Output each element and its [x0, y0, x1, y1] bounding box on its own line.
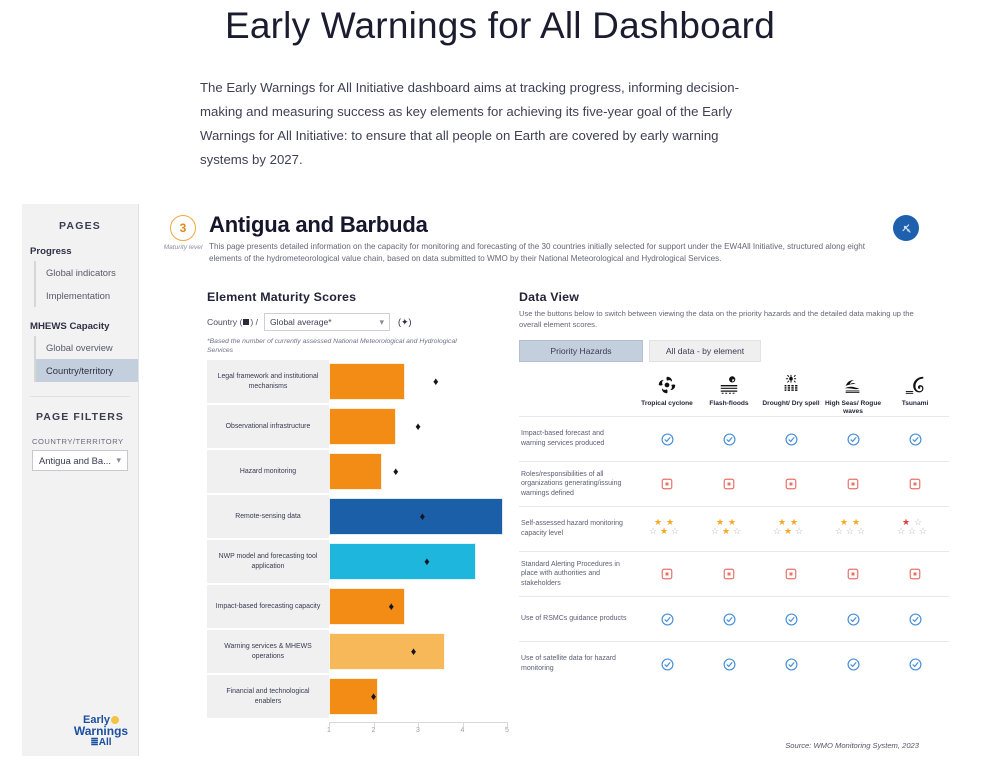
- matrix-cell: [884, 552, 946, 596]
- sidebar-group-mhews-items: Global overview Country/territory: [34, 336, 138, 382]
- cross-icon: [785, 478, 797, 490]
- matrix-cell: [822, 597, 884, 641]
- matrix-row-label: Impact-based forecast and warning servic…: [519, 417, 636, 461]
- star-rating: ★☆☆☆☆: [900, 518, 930, 540]
- bar-row: Legal framework and institutional mechan…: [207, 360, 507, 403]
- bar-row: Observational infrastructure♦: [207, 405, 507, 448]
- country-description: This page presents detailed information …: [209, 241, 899, 264]
- matrix-column-label: High Seas/ Rogue waves: [823, 400, 883, 416]
- dashboard-page: Early Warnings for All Dashboard The Ear…: [0, 4, 1000, 762]
- check-icon: [847, 433, 860, 446]
- matrix-column-label: Flash-floods: [699, 400, 759, 408]
- matrix-cell: [636, 552, 698, 596]
- matrix-row: Roles/responsibilities of all organizati…: [519, 461, 949, 506]
- sidebar-item-implementation[interactable]: Implementation: [36, 284, 138, 307]
- check-icon: [785, 433, 798, 446]
- wmo-logo-icon: [893, 215, 919, 241]
- sidebar-item-global-overview[interactable]: Global overview: [36, 336, 138, 359]
- matrix-column-header: Tsunami: [884, 364, 946, 416]
- bar-track: ♦: [329, 405, 507, 448]
- sidebar-group-progress: Progress: [22, 232, 138, 261]
- matrix-row-label: Use of RSMCs guidance products: [519, 597, 636, 641]
- comparison-select-value: Global average*: [270, 317, 332, 327]
- chart-x-axis: 12345: [329, 720, 507, 742]
- check-icon: [847, 658, 860, 671]
- source-note: Source: WMO Monitoring System, 2023: [785, 741, 919, 750]
- bar-row: Impact-based forecasting capacity♦: [207, 585, 507, 628]
- matrix-cell: [698, 552, 760, 596]
- maturity-level-caption: Maturity level: [162, 244, 204, 252]
- drought-dry-spell-icon: [780, 364, 802, 396]
- matrix-row: Use of RSMCs guidance products: [519, 596, 949, 641]
- bar-row: NWP model and forecasting tool applicati…: [207, 540, 507, 583]
- country-filter-label: COUNTRY/TERRITORY: [22, 423, 138, 450]
- matrix-row: Impact-based forecast and warning servic…: [519, 416, 949, 461]
- bar-label: Financial and technological enablers: [207, 675, 329, 718]
- intro-paragraph: The Early Warnings for All Initiative da…: [200, 76, 745, 172]
- matrix-row: Use of satellite data for hazard monitor…: [519, 641, 949, 686]
- matrix-row-label: Self-assessed hazard monitoring capacity…: [519, 507, 636, 551]
- star-rating: ★★☆★☆: [776, 518, 806, 540]
- bar-rows-container: Legal framework and institutional mechan…: [207, 360, 507, 718]
- check-icon: [723, 658, 736, 671]
- sidebar-item-global-indicators[interactable]: Global indicators: [36, 261, 138, 284]
- matrix-cell: [760, 642, 822, 686]
- matrix-corner-spacer: [519, 364, 636, 416]
- matrix-cell: [698, 642, 760, 686]
- sidebar-filters-heading: PAGE FILTERS: [22, 397, 138, 423]
- sun-icon: [111, 716, 119, 724]
- chevron-down-icon: ▾: [379, 317, 384, 328]
- logo-line-3: ≣All: [72, 737, 130, 748]
- check-icon: [847, 613, 860, 626]
- matrix-cell: [636, 642, 698, 686]
- matrix-cell: [636, 597, 698, 641]
- star-empty-icon: ☆: [897, 527, 905, 536]
- star-filled-icon: ★: [660, 527, 668, 536]
- matrix-header-row: Tropical cycloneFlash-floodsDrought/ Dry…: [519, 364, 949, 416]
- data-view-title: Data View: [519, 290, 939, 304]
- cross-icon: [847, 568, 859, 580]
- star-empty-icon: ☆: [835, 527, 843, 536]
- matrix-cell: ★★☆★☆: [760, 507, 822, 551]
- priority-hazards-button[interactable]: Priority Hazards: [519, 340, 643, 362]
- axis-tick-label: 2: [372, 727, 376, 734]
- check-icon: [909, 433, 922, 446]
- tsunami-icon: [904, 364, 926, 396]
- cross-icon: [909, 568, 921, 580]
- square-marker-icon: [243, 319, 249, 325]
- axis-tick-label: 1: [327, 727, 331, 734]
- bar-label: Legal framework and institutional mechan…: [207, 360, 329, 403]
- matrix-column-label: Drought/ Dry spell: [761, 400, 821, 408]
- check-icon: [723, 433, 736, 446]
- matrix-cell: [698, 597, 760, 641]
- matrix-cell: [884, 417, 946, 461]
- star-empty-icon: ☆: [649, 527, 657, 536]
- country-filter-value: Antigua and Ba...: [39, 455, 111, 466]
- matrix-cell: [884, 642, 946, 686]
- star-empty-icon: ☆: [919, 527, 927, 536]
- matrix-cell: ★★☆☆☆: [822, 507, 884, 551]
- matrix-row-label: Roles/responsibilities of all organizati…: [519, 462, 636, 506]
- sidebar-heading: PAGES: [22, 204, 138, 232]
- star-empty-icon: ☆: [795, 527, 803, 536]
- data-view-panel: Data View Use the buttons below to switc…: [519, 290, 939, 362]
- bar-row: Financial and technological enablers♦: [207, 675, 507, 718]
- matrix-cell: [822, 642, 884, 686]
- check-icon: [661, 433, 674, 446]
- bar-row: Warning services & MHEWS operations♦: [207, 630, 507, 673]
- star-filled-icon: ★: [722, 527, 730, 536]
- cross-icon: [661, 568, 673, 580]
- all-data-by-element-button[interactable]: All data - by element: [649, 340, 761, 362]
- matrix-cell: [822, 552, 884, 596]
- star-rating: ★★☆★☆: [652, 518, 682, 540]
- matrix-column-header: Drought/ Dry spell: [760, 364, 822, 416]
- matrix-column-label: Tsunami: [885, 400, 945, 408]
- cross-icon: [723, 568, 735, 580]
- early-warnings-for-all-logo: Early Warnings ≣All: [72, 715, 130, 748]
- check-icon: [909, 658, 922, 671]
- element-maturity-title: Element Maturity Scores: [207, 290, 507, 304]
- bar-fill[interactable]: [329, 453, 382, 490]
- bar-track: ♦: [329, 450, 507, 493]
- priority-hazards-matrix: Tropical cycloneFlash-floodsDrought/ Dry…: [519, 364, 949, 686]
- bar-fill[interactable]: [329, 363, 405, 400]
- bar-fill[interactable]: [329, 633, 445, 670]
- bar-row: Remote-sensing data♦: [207, 495, 507, 538]
- country-filter-select[interactable]: Antigua and Ba... ▾: [32, 450, 128, 471]
- chart-controls: Country () / Global average* ▾ (✦): [207, 313, 507, 331]
- cross-icon: [909, 478, 921, 490]
- matrix-row: Self-assessed hazard monitoring capacity…: [519, 506, 949, 551]
- sidebar-item-country-territory[interactable]: Country/territory: [36, 359, 138, 382]
- matrix-cell: [698, 417, 760, 461]
- star-empty-icon: ☆: [733, 527, 741, 536]
- check-icon: [661, 658, 674, 671]
- sidebar-group-progress-items: Global indicators Implementation: [34, 261, 138, 307]
- bar-label: Impact-based forecasting capacity: [207, 585, 329, 628]
- matrix-body: Impact-based forecast and warning servic…: [519, 416, 949, 686]
- matrix-cell: [760, 597, 822, 641]
- bar-label: Observational infrastructure: [207, 405, 329, 448]
- matrix-column-header: High Seas/ Rogue waves: [822, 364, 884, 416]
- diamond-marker-icon: (✦): [398, 317, 412, 328]
- axis-tick-label: 5: [505, 727, 509, 734]
- bar-fill[interactable]: [329, 543, 476, 580]
- matrix-column-header: Flash-floods: [698, 364, 760, 416]
- dashboard-frame: PAGES Progress Global indicators Impleme…: [22, 204, 927, 756]
- check-icon: [661, 613, 674, 626]
- check-icon: [785, 658, 798, 671]
- bar-row: Hazard monitoring♦: [207, 450, 507, 493]
- bar-track: ♦: [329, 630, 507, 673]
- matrix-cell: [636, 462, 698, 506]
- star-rating: ★★☆☆☆: [838, 518, 868, 540]
- sidebar-group-mhews-capacity: MHEWS Capacity: [22, 307, 138, 336]
- bar-track: ♦: [329, 495, 507, 538]
- star-empty-icon: ☆: [671, 527, 679, 536]
- element-maturity-panel: Element Maturity Scores Country () / Glo…: [207, 290, 507, 355]
- bar-label: Remote-sensing data: [207, 495, 329, 538]
- maturity-level-badge: 3: [170, 215, 196, 241]
- cross-icon: [723, 478, 735, 490]
- bar-fill[interactable]: [329, 498, 503, 535]
- data-view-description: Use the buttons below to switch between …: [519, 309, 919, 330]
- data-view-buttons: Priority Hazards All data - by element: [519, 340, 939, 362]
- page-title: Early Warnings for All Dashboard: [0, 4, 1000, 48]
- cross-icon: [785, 568, 797, 580]
- chevron-down-icon: ▾: [116, 455, 121, 466]
- logo-line-2: Warnings: [72, 726, 130, 737]
- matrix-cell: [636, 417, 698, 461]
- star-empty-icon: ☆: [773, 527, 781, 536]
- matrix-row: Standard Alerting Procedures in place wi…: [519, 551, 949, 596]
- axis-tick-label: 3: [416, 727, 420, 734]
- matrix-cell: [822, 417, 884, 461]
- matrix-cell: ★★☆★☆: [636, 507, 698, 551]
- matrix-cell: [698, 462, 760, 506]
- high-seas-rogue-waves-icon: [842, 364, 864, 396]
- bar-label: Warning services & MHEWS operations: [207, 630, 329, 673]
- dashboard-content: 3 Maturity level Antigua and Barbuda Thi…: [139, 204, 927, 756]
- matrix-cell: [760, 462, 822, 506]
- chart-footnote: *Based the number of currently assessed …: [207, 337, 469, 355]
- axis-tick-label: 4: [461, 727, 465, 734]
- star-empty-icon: ☆: [908, 527, 916, 536]
- star-empty-icon: ☆: [857, 527, 865, 536]
- star-filled-icon: ★: [784, 527, 792, 536]
- matrix-row-label: Standard Alerting Procedures in place wi…: [519, 552, 636, 596]
- maturity-bar-chart: Legal framework and institutional mechan…: [207, 360, 507, 742]
- matrix-cell: ★★☆★☆: [698, 507, 760, 551]
- bar-label: NWP model and forecasting tool applicati…: [207, 540, 329, 583]
- bar-label: Hazard monitoring: [207, 450, 329, 493]
- matrix-cell: [760, 417, 822, 461]
- check-icon: [785, 613, 798, 626]
- check-icon: [723, 613, 736, 626]
- country-marker-label: Country () /: [207, 317, 258, 327]
- cross-icon: [847, 478, 859, 490]
- country-name: Antigua and Barbuda: [209, 212, 428, 238]
- matrix-column-label: Tropical cyclone: [637, 400, 697, 408]
- bar-track: ♦: [329, 540, 507, 583]
- tropical-cyclone-icon: [656, 364, 678, 396]
- check-icon: [909, 613, 922, 626]
- comparison-select[interactable]: Global average* ▾: [264, 313, 390, 331]
- bar-fill[interactable]: [329, 408, 396, 445]
- star-empty-icon: ☆: [711, 527, 719, 536]
- matrix-column-header: Tropical cyclone: [636, 364, 698, 416]
- bar-track: ♦: [329, 360, 507, 403]
- matrix-cell: [884, 597, 946, 641]
- star-rating: ★★☆★☆: [714, 518, 744, 540]
- sidebar: PAGES Progress Global indicators Impleme…: [22, 204, 139, 756]
- matrix-cell: ★☆☆☆☆: [884, 507, 946, 551]
- bar-track: ♦: [329, 675, 507, 718]
- star-empty-icon: ☆: [846, 527, 854, 536]
- matrix-cell: [822, 462, 884, 506]
- bar-track: ♦: [329, 585, 507, 628]
- matrix-cell: [884, 462, 946, 506]
- matrix-row-label: Use of satellite data for hazard monitor…: [519, 642, 636, 686]
- flash-floods-icon: [718, 364, 740, 396]
- matrix-cell: [760, 552, 822, 596]
- cross-icon: [661, 478, 673, 490]
